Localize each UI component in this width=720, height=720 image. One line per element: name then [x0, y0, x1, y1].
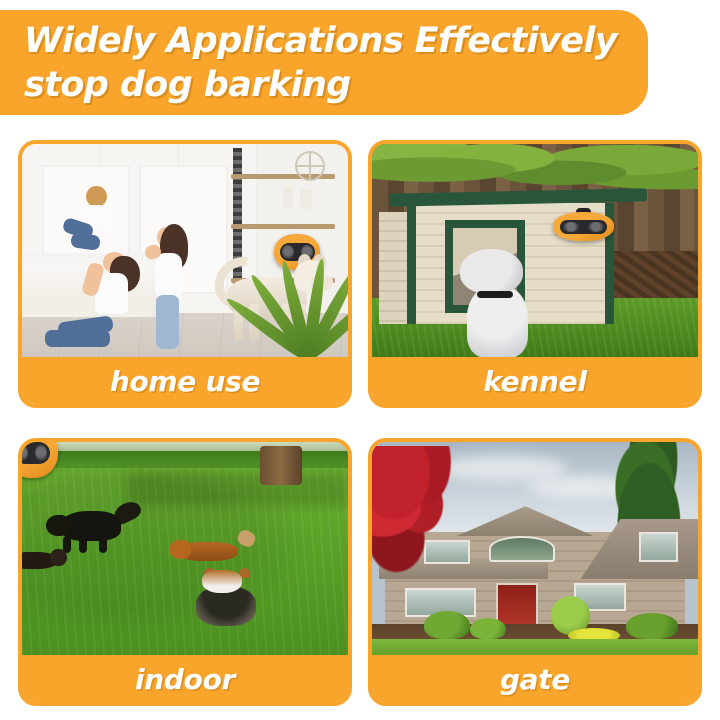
- panel-label-kennel: kennel: [371, 357, 699, 405]
- globe-ornament: [295, 151, 325, 181]
- shrub: [626, 613, 678, 639]
- dog-head: [460, 249, 523, 294]
- use-case-grid: home use: [18, 140, 702, 706]
- panel-photo-home-use: [22, 144, 348, 358]
- panel-label-gate: gate: [371, 655, 699, 703]
- front-lawn: [372, 639, 698, 656]
- scene-living-room: [22, 144, 348, 358]
- shrub: [470, 618, 506, 639]
- scene-suburban-house: [372, 442, 698, 656]
- device-face-plate: [22, 442, 50, 464]
- dark-dachshund: [22, 549, 64, 577]
- potted-palm: [244, 225, 348, 358]
- panel-photo-kennel: [372, 144, 698, 358]
- tree-shadow: [126, 472, 348, 506]
- toddler-head: [86, 186, 107, 207]
- product-infographic: Widely Applications Effectively stop dog…: [0, 0, 720, 720]
- panel-kennel[interactable]: kennel: [368, 140, 702, 408]
- curly-coated-dog: [457, 249, 542, 356]
- arched-window: [489, 536, 554, 562]
- panel-label-home-use: home use: [21, 357, 349, 405]
- tree-trunk: [260, 446, 302, 485]
- dog-head: [46, 515, 70, 536]
- device-speaker-cone: [563, 222, 579, 233]
- panel-label-indoor: indoor: [21, 655, 349, 703]
- dog-collar: [477, 291, 513, 298]
- dog-leg: [99, 536, 107, 553]
- vase: [283, 186, 293, 208]
- girl-figure: [139, 219, 208, 349]
- panel-gate[interactable]: gate: [368, 438, 702, 706]
- vase: [300, 189, 312, 209]
- scene-park-lawn: [22, 442, 348, 656]
- red-maple-tree: [372, 446, 476, 579]
- girl-legs: [156, 295, 179, 350]
- panel-photo-gate: [372, 442, 698, 656]
- bark-control-device: [553, 212, 614, 241]
- black-dog-running: [48, 502, 139, 553]
- dog-head: [50, 549, 67, 566]
- device-speaker-cone: [588, 222, 604, 233]
- upper-window: [639, 532, 678, 562]
- device-face-plate: [560, 220, 606, 234]
- header-banner: Widely Applications Effectively stop dog…: [0, 10, 648, 115]
- device-speaker-cone: [35, 445, 47, 461]
- panel-photo-indoor: [22, 442, 348, 656]
- tan-dachshund: [172, 536, 250, 570]
- dog-head: [169, 540, 191, 559]
- bark-control-device: [22, 442, 58, 478]
- page-title: Widely Applications Effectively stop dog…: [24, 19, 628, 107]
- panel-indoor[interactable]: indoor: [18, 438, 352, 706]
- scene-backyard-kennel: [372, 144, 698, 358]
- shrub: [424, 611, 470, 639]
- dog-leg: [79, 536, 87, 553]
- panel-home-use[interactable]: home use: [18, 140, 352, 408]
- corgi-dog: [192, 570, 264, 634]
- girl-torso: [155, 253, 182, 297]
- dog-head: [202, 570, 242, 593]
- device-speaker-cone: [22, 445, 28, 461]
